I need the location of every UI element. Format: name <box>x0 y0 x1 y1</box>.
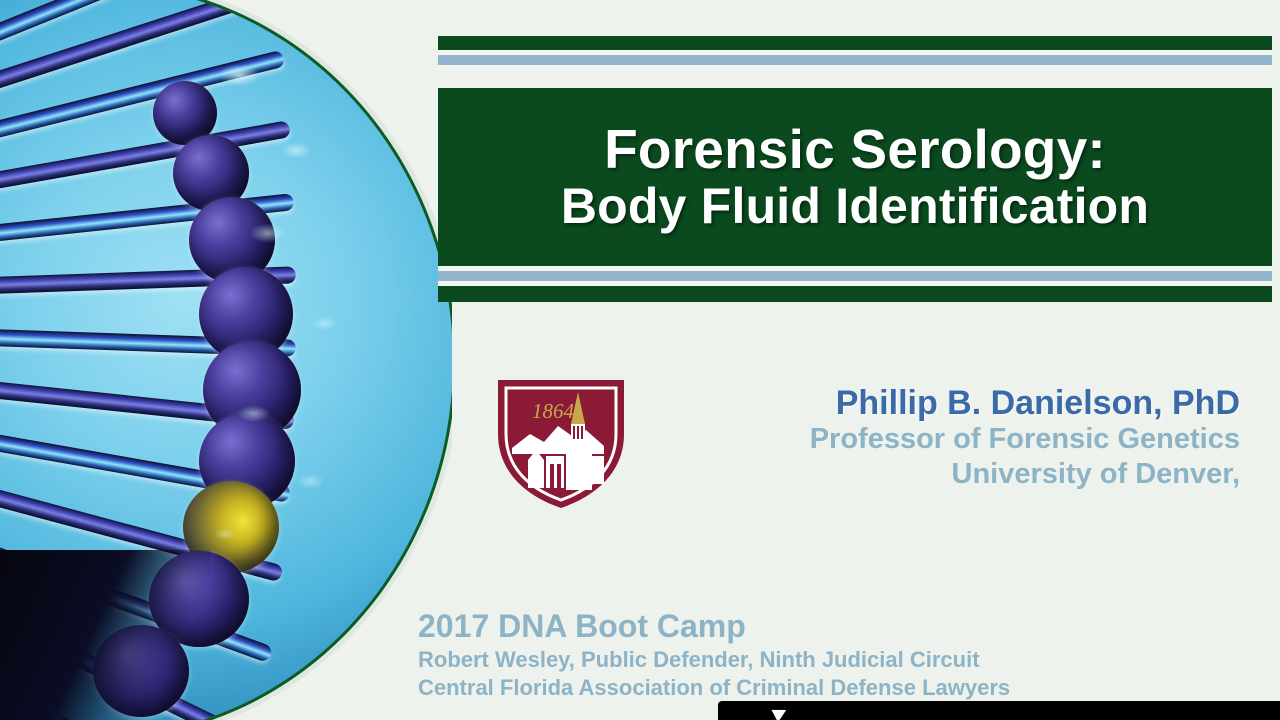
dna-shadow <box>0 550 210 720</box>
play-triangle-icon[interactable] <box>771 704 789 720</box>
event-block: 2017 DNA Boot Camp Robert Wesley, Public… <box>418 608 1198 703</box>
banner-stripe-top-green <box>438 36 1272 50</box>
banner-stripe-bottom-green <box>438 286 1272 302</box>
title-line-2: Body Fluid Identification <box>561 180 1149 233</box>
speaker-institution: University of Denver, <box>636 457 1240 492</box>
event-line-2: Central Florida Association of Criminal … <box>418 674 1198 703</box>
speaker-block: 1864 Phillip B. Danielson, PhD Professor… <box>486 372 1256 512</box>
video-player-control-bar[interactable] <box>718 701 1280 720</box>
banner-stripe-top-white-2 <box>438 65 1272 70</box>
title-banner: Forensic Serology: Body Fluid Identifica… <box>438 36 1272 320</box>
event-title: 2017 DNA Boot Camp <box>418 608 1198 646</box>
speaker-name: Phillip B. Danielson, PhD <box>636 384 1240 422</box>
university-of-denver-shield-icon: 1864 <box>486 372 636 512</box>
event-line-1: Robert Wesley, Public Defender, Ninth Ju… <box>418 646 1198 675</box>
shield-year: 1864 <box>532 399 575 423</box>
dna-helix-artwork <box>0 0 452 720</box>
banner-stripe-bottom-blue <box>438 271 1272 281</box>
slide-title: Forensic Serology: Body Fluid Identifica… <box>438 88 1272 266</box>
speaker-text: Phillip B. Danielson, PhD Professor of F… <box>636 384 1256 493</box>
title-line-1: Forensic Serology: <box>604 121 1106 178</box>
speaker-role: Professor of Forensic Genetics <box>636 422 1240 457</box>
banner-stripe-top-blue <box>438 55 1272 65</box>
presentation-slide: Forensic Serology: Body Fluid Identifica… <box>0 0 1280 720</box>
